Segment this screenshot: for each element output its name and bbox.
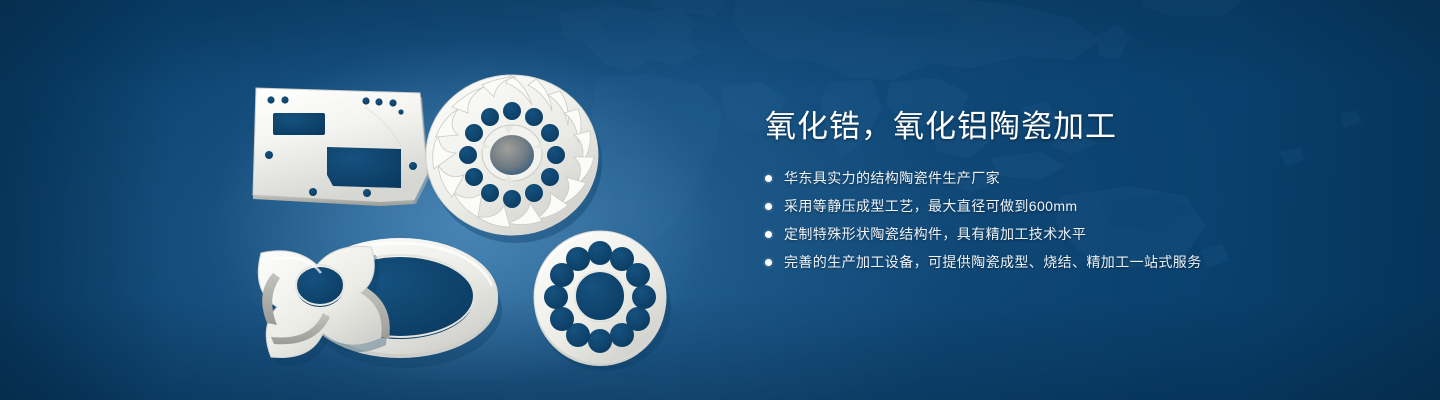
ceramic-cross-shaped-part (258, 246, 390, 365)
feature-text: 采用等静压成型工艺，最大直径可做到600mm (784, 196, 1077, 216)
feature-list: 华东具实力的结构陶瓷件生产厂家 采用等静压成型工艺，最大直径可做到600mm 定… (765, 168, 1385, 272)
page-title: 氧化锆，氧化铝陶瓷加工 (765, 108, 1385, 146)
ceramic-machined-plate (253, 88, 429, 206)
hero-banner: 氧化锆，氧化铝陶瓷加工 华东具实力的结构陶瓷件生产厂家 采用等静压成型工艺，最大… (0, 0, 1440, 400)
list-item: 完善的生产加工设备，可提供陶瓷成型、烧结、精加工一站式服务 (765, 252, 1385, 272)
product-photo-cluster (215, 35, 715, 380)
list-item: 华东具实力的结构陶瓷件生产厂家 (765, 168, 1385, 188)
list-item: 定制特殊形状陶瓷结构件，具有精加工技术水平 (765, 224, 1385, 244)
bullet-dot-icon (765, 231, 772, 238)
feature-text: 完善的生产加工设备，可提供陶瓷成型、烧结、精加工一站式服务 (784, 252, 1202, 272)
banner-copy: 氧化锆，氧化铝陶瓷加工 华东具实力的结构陶瓷件生产厂家 采用等静压成型工艺，最大… (765, 108, 1385, 272)
bullet-dot-icon (765, 259, 772, 266)
list-item: 采用等静压成型工艺，最大直径可做到600mm (765, 196, 1385, 216)
bullet-dot-icon (765, 175, 772, 182)
feature-text: 定制特殊形状陶瓷结构件，具有精加工技术水平 (784, 224, 1086, 244)
bullet-dot-icon (765, 203, 772, 210)
feature-text: 华东具实力的结构陶瓷件生产厂家 (784, 168, 1000, 188)
